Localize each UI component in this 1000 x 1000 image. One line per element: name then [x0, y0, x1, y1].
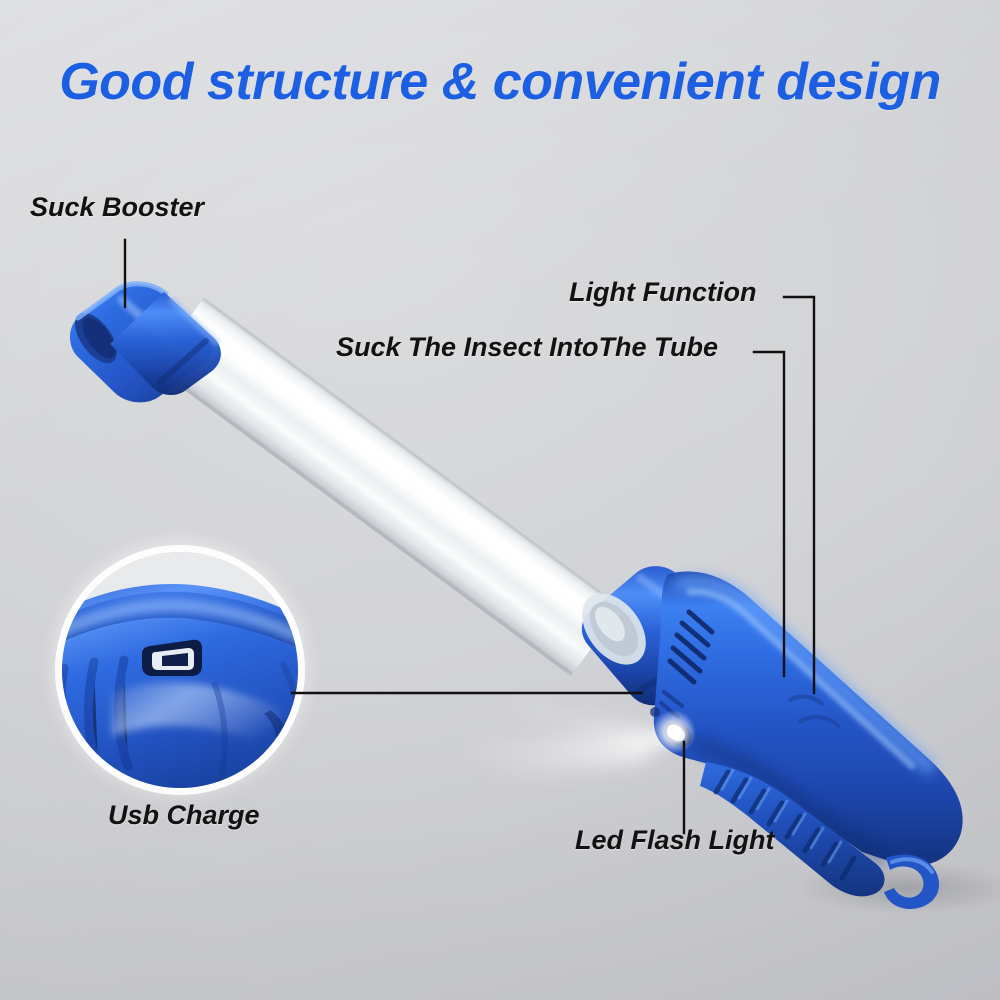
infographic-canvas: Good structure & convenient design Suck …: [0, 0, 1000, 1000]
product-illustration: [0, 0, 1000, 1000]
callout-label-light-function: Light Function: [569, 277, 756, 308]
callout-label-suck-insect: Suck The Insect IntoThe Tube: [336, 332, 718, 363]
callout-label-usb-charge: Usb Charge: [108, 800, 260, 831]
usb-charge-magnifier: [62, 552, 298, 788]
body-screw: [650, 707, 660, 717]
callout-label-led-flash: Led Flash Light: [575, 825, 775, 856]
callout-label-suck-booster: Suck Booster: [30, 192, 204, 223]
usb-inset-artwork: [62, 552, 298, 788]
led-light-cone: [455, 700, 676, 790]
page-title: Good structure & convenient design: [0, 52, 1000, 112]
